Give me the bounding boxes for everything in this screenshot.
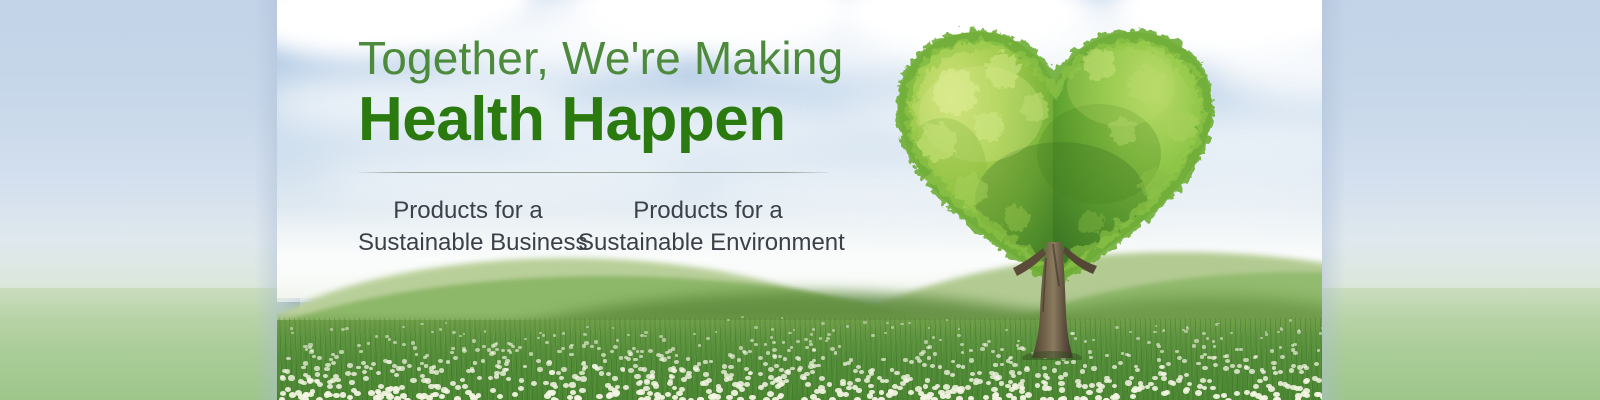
banner-right-fade [1300,0,1600,400]
banner-photo: Together, We're Making Health Happen Pro… [277,0,1322,400]
banner-left-fade [0,0,300,400]
tagline-2-line-2: Sustainable Environment [578,227,838,259]
headline-line-1: Together, We're Making [358,30,838,86]
tagline-column-environment: Products for a Sustainable Environment [578,195,838,259]
tagline-2-line-1: Products for a [578,195,838,227]
heart-tree [885,22,1225,322]
headline-block: Together, We're Making Health Happen Pro… [358,30,838,259]
tagline-1-line-1: Products for a [358,195,578,227]
headline-divider [358,172,828,173]
tagline-column-business: Products for a Sustainable Business [358,195,578,259]
headline-line-2: Health Happen [358,84,838,156]
tree-trunk-icon [1013,242,1099,360]
wildflower-layer [277,316,1322,400]
tagline-columns: Products for a Sustainable Business Prod… [358,195,838,259]
tagline-1-line-2: Sustainable Business [358,227,578,259]
hero-banner: Together, We're Making Health Happen Pro… [0,0,1600,400]
